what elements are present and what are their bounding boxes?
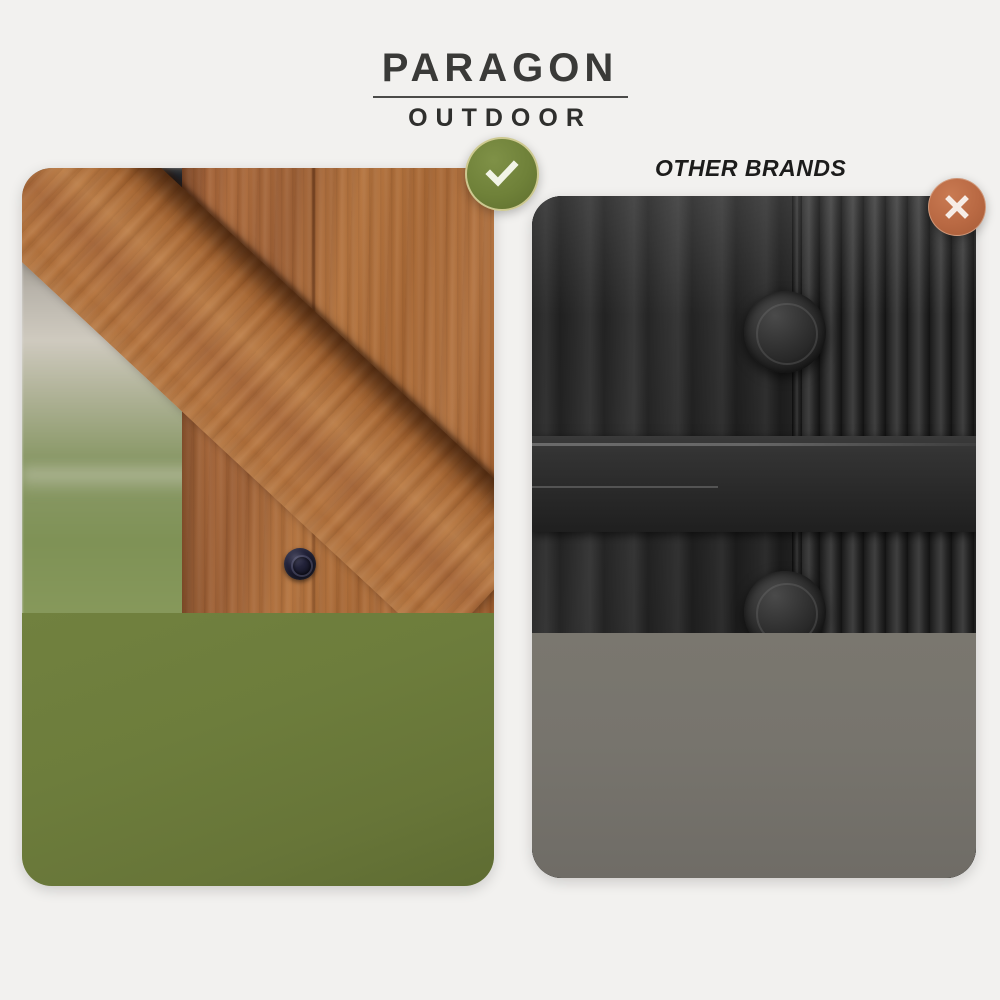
trim-band-seam xyxy=(532,486,718,488)
diagonal-brace-group xyxy=(22,168,392,668)
check-icon xyxy=(482,154,522,194)
horizontal-trim-band xyxy=(532,436,976,532)
trim-band-highlight xyxy=(532,443,976,446)
other-brands-label: OTHER BRANDS xyxy=(655,155,846,182)
logo-divider xyxy=(373,96,628,98)
check-badge xyxy=(465,137,539,211)
other-brands-caption-banner: TWO PIECE DESIGN THIN ALUMINUM xyxy=(532,633,976,878)
paragon-feature-banner: 30% THICKER ALUMINUM SINGLE POST CONSTRU… xyxy=(22,613,494,886)
bolt-cap-icon xyxy=(744,291,826,373)
brand-name-primary: PARAGON xyxy=(380,48,620,96)
cross-badge xyxy=(928,178,986,236)
brand-logo: PARAGON OUTDOOR xyxy=(0,48,1000,131)
brand-name-secondary: OUTDOOR xyxy=(0,106,1000,131)
paragon-comparison-card: 30% THICKER ALUMINUM SINGLE POST CONSTRU… xyxy=(22,168,494,886)
surface-glare xyxy=(532,196,976,316)
bolt-icon xyxy=(284,548,316,580)
comparison-infographic: PARAGON OUTDOOR OTHER BRANDS xyxy=(0,0,1000,1000)
close-icon xyxy=(942,192,972,222)
other-brands-comparison-card: TWO PIECE DESIGN THIN ALUMINUM xyxy=(532,196,976,878)
